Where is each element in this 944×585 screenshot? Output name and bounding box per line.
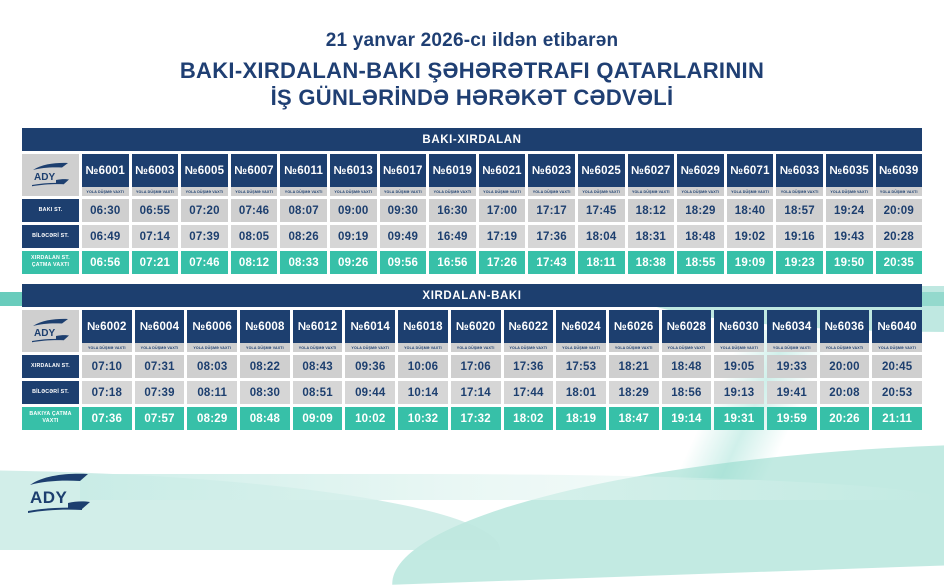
- title-main-line-1: BAKI-XIRDALAN-BAKI ŞƏHƏRƏTRAFI QATARLARI…: [0, 58, 944, 85]
- train-number[interactable]: №6002: [82, 310, 132, 343]
- departure-time-label: YOLA DÜŞMƏ VAXTI: [429, 187, 476, 196]
- departure-time-label: YOLA DÜŞMƏ VAXTI: [135, 343, 185, 352]
- departure-time-label: YOLA DÜŞMƏ VAXTI: [82, 187, 129, 196]
- train-column[interactable]: №6008YOLA DÜŞMƏ VAXTI: [240, 310, 290, 352]
- time-cell: 19:16: [776, 225, 823, 248]
- time-cell: 17:36: [504, 355, 554, 378]
- train-number[interactable]: №6039: [876, 154, 923, 187]
- departure-time-label: YOLA DÜŞMƏ VAXTI: [820, 343, 870, 352]
- departure-time-label: YOLA DÜŞMƏ VAXTI: [240, 343, 290, 352]
- time-cell: 17:19: [479, 225, 526, 248]
- station-label: BAKI ST.: [22, 199, 79, 222]
- time-cell: 20:00: [820, 355, 870, 378]
- train-number[interactable]: №6012: [293, 310, 343, 343]
- train-column[interactable]: №6020YOLA DÜŞMƏ VAXTI: [451, 310, 501, 352]
- time-cell: 06:49: [82, 225, 129, 248]
- time-cell: 20:28: [876, 225, 923, 248]
- departure-time-label: YOLA DÜŞMƏ VAXTI: [609, 343, 659, 352]
- train-column[interactable]: №6014YOLA DÜŞMƏ VAXTI: [345, 310, 395, 352]
- time-cell: 18:56: [662, 381, 712, 404]
- train-column[interactable]: №6024YOLA DÜŞMƏ VAXTI: [556, 310, 606, 352]
- svg-text:ADY: ADY: [30, 488, 68, 507]
- time-cell: 19:24: [826, 199, 873, 222]
- train-number[interactable]: №6020: [451, 310, 501, 343]
- departure-time-label: YOLA DÜŞMƏ VAXTI: [345, 343, 395, 352]
- departure-time-label: YOLA DÜŞMƏ VAXTI: [181, 187, 228, 196]
- train-number[interactable]: №6028: [662, 310, 712, 343]
- schedule-rows: XIRDALAN ST.07:1007:3108:0308:2208:4309:…: [22, 352, 922, 430]
- svg-text:ADY: ADY: [34, 328, 55, 339]
- time-cell: 19:33: [767, 355, 817, 378]
- train-column[interactable]: №6019YOLA DÜŞMƏ VAXTI: [429, 154, 476, 196]
- time-cell: 07:18: [82, 381, 132, 404]
- train-column[interactable]: №6023YOLA DÜŞMƏ VAXTI: [528, 154, 575, 196]
- train-number[interactable]: №6040: [872, 310, 922, 343]
- train-column[interactable]: №6013YOLA DÜŞMƏ VAXTI: [330, 154, 377, 196]
- time-cell: 18:47: [609, 407, 659, 430]
- time-cell: 19:31: [714, 407, 764, 430]
- time-cell: 18:48: [662, 355, 712, 378]
- schedule-rows: BAKI ST.06:3006:5507:2007:4608:0709:0009…: [22, 196, 922, 274]
- departure-time-label: YOLA DÜŞMƏ VAXTI: [872, 343, 922, 352]
- time-cell: 08:03: [187, 355, 237, 378]
- time-cell: 08:51: [293, 381, 343, 404]
- train-column[interactable]: №6026YOLA DÜŞMƏ VAXTI: [609, 310, 659, 352]
- time-cell: 20:45: [872, 355, 922, 378]
- time-cell: 17:17: [528, 199, 575, 222]
- time-cell: 09:09: [293, 407, 343, 430]
- train-number-header-row: ADY№6002YOLA DÜŞMƏ VAXTI№6004YOLA DÜŞMƏ …: [22, 310, 922, 352]
- time-cell: 07:14: [132, 225, 179, 248]
- time-cell: 07:36: [82, 407, 132, 430]
- time-cell: 18:02: [504, 407, 554, 430]
- departure-time-label: YOLA DÜŞMƏ VAXTI: [280, 187, 327, 196]
- departure-time-label: YOLA DÜŞMƏ VAXTI: [876, 187, 923, 196]
- time-cell: 09:30: [380, 199, 427, 222]
- train-column[interactable]: №6029YOLA DÜŞMƏ VAXTI: [677, 154, 724, 196]
- time-cell: 20:08: [820, 381, 870, 404]
- departure-time-label: YOLA DÜŞMƏ VAXTI: [479, 187, 526, 196]
- time-cell: 07:20: [181, 199, 228, 222]
- time-cell: 18:12: [628, 199, 675, 222]
- svg-text:ADY: ADY: [34, 172, 55, 183]
- train-column[interactable]: №6018YOLA DÜŞMƏ VAXTI: [398, 310, 448, 352]
- train-number[interactable]: №6017: [380, 154, 427, 187]
- time-cell: 08:07: [280, 199, 327, 222]
- time-cell: 19:43: [826, 225, 873, 248]
- train-number[interactable]: №6004: [135, 310, 185, 343]
- table-header-xirdalan-baki: XIRDALAN-BAKI: [22, 284, 922, 307]
- train-number[interactable]: №6001: [82, 154, 129, 187]
- train-number[interactable]: №6027: [628, 154, 675, 187]
- train-column[interactable]: №6005YOLA DÜŞMƏ VAXTI: [181, 154, 228, 196]
- schedule-table-xirdalan-baki: XIRDALAN-BAKIADY№6002YOLA DÜŞMƏ VAXTI№60…: [22, 284, 922, 430]
- train-number[interactable]: №6006: [187, 310, 237, 343]
- train-number[interactable]: №6030: [714, 310, 764, 343]
- table-header-baki-xirdalan: BAKI-XIRDALAN: [22, 128, 922, 151]
- time-cell: 17:53: [556, 355, 606, 378]
- station-label: XIRDALAN ST.: [22, 355, 79, 378]
- time-cell: 19:14: [662, 407, 712, 430]
- departure-time-label: YOLA DÜŞMƏ VAXTI: [714, 343, 764, 352]
- ady-logo-footer: ADY: [22, 472, 100, 514]
- time-cell: 18:29: [609, 381, 659, 404]
- train-columns: №6002YOLA DÜŞMƏ VAXTI№6004YOLA DÜŞMƏ VAX…: [79, 310, 922, 352]
- time-cell: 07:39: [135, 381, 185, 404]
- time-cell: 07:31: [135, 355, 185, 378]
- station-label: BİLƏCƏRİ ST.: [22, 381, 79, 404]
- train-number[interactable]: №6029: [677, 154, 724, 187]
- time-cell: 21:11: [872, 407, 922, 430]
- time-cell: 17:43: [528, 251, 575, 274]
- table-row: BAKIYA ÇATMA VAXTI07:3607:5708:2908:4809…: [22, 407, 922, 430]
- train-number[interactable]: №6023: [528, 154, 575, 187]
- time-cell: 08:11: [187, 381, 237, 404]
- time-cell: 18:01: [556, 381, 606, 404]
- train-number[interactable]: №6024: [556, 310, 606, 343]
- time-cell: 17:36: [528, 225, 575, 248]
- train-column[interactable]: №6012YOLA DÜŞMƏ VAXTI: [293, 310, 343, 352]
- time-cell: 09:26: [330, 251, 377, 274]
- train-column[interactable]: №6039YOLA DÜŞMƏ VAXTI: [876, 154, 923, 196]
- time-cell: 06:30: [82, 199, 129, 222]
- train-number[interactable]: №6033: [776, 154, 823, 187]
- train-column[interactable]: №6007YOLA DÜŞMƏ VAXTI: [231, 154, 278, 196]
- train-number[interactable]: №6014: [345, 310, 395, 343]
- time-cell: 10:06: [398, 355, 448, 378]
- time-cell: 20:53: [872, 381, 922, 404]
- ady-logo-cell: ADY: [22, 154, 79, 196]
- time-cell: 18:19: [556, 407, 606, 430]
- time-cell: 09:44: [345, 381, 395, 404]
- train-number[interactable]: №6022: [504, 310, 554, 343]
- time-cell: 08:33: [280, 251, 327, 274]
- train-column[interactable]: №6040YOLA DÜŞMƏ VAXTI: [872, 310, 922, 352]
- time-cell: 19:41: [767, 381, 817, 404]
- time-cell: 07:21: [132, 251, 179, 274]
- train-number[interactable]: №6019: [429, 154, 476, 187]
- train-column[interactable]: №6071YOLA DÜŞMƏ VAXTI: [727, 154, 774, 196]
- time-cell: 17:06: [451, 355, 501, 378]
- time-cell: 16:56: [429, 251, 476, 274]
- time-cell: 07:46: [181, 251, 228, 274]
- table-row: BİLƏCƏRİ ST.06:4907:1407:3908:0508:2609:…: [22, 225, 922, 248]
- departure-time-label: YOLA DÜŞMƏ VAXTI: [556, 343, 606, 352]
- departure-time-label: YOLA DÜŞMƏ VAXTI: [380, 187, 427, 196]
- departure-time-label: YOLA DÜŞMƏ VAXTI: [528, 187, 575, 196]
- table-row: BAKI ST.06:3006:5507:2007:4608:0709:0009…: [22, 199, 922, 222]
- train-number[interactable]: №6008: [240, 310, 290, 343]
- table-row: BİLƏCƏRİ ST.07:1807:3908:1108:3008:5109:…: [22, 381, 922, 404]
- page-footer: ADY: [0, 462, 944, 528]
- time-cell: 18:21: [609, 355, 659, 378]
- train-column[interactable]: №6006YOLA DÜŞMƏ VAXTI: [187, 310, 237, 352]
- train-number[interactable]: №6034: [767, 310, 817, 343]
- time-cell: 19:05: [714, 355, 764, 378]
- train-column[interactable]: №6034YOLA DÜŞMƏ VAXTI: [767, 310, 817, 352]
- departure-time-label: YOLA DÜŞMƏ VAXTI: [187, 343, 237, 352]
- train-columns: №6001YOLA DÜŞMƏ VAXTI№6003YOLA DÜŞMƏ VAX…: [79, 154, 922, 196]
- time-cell: 18:57: [776, 199, 823, 222]
- train-column[interactable]: №6004YOLA DÜŞMƏ VAXTI: [135, 310, 185, 352]
- station-label: BİLƏCƏRİ ST.: [22, 225, 79, 248]
- departure-time-label: YOLA DÜŞMƏ VAXTI: [231, 187, 278, 196]
- time-cell: 07:10: [82, 355, 132, 378]
- train-column[interactable]: №6036YOLA DÜŞMƏ VAXTI: [820, 310, 870, 352]
- train-number[interactable]: №6011: [280, 154, 327, 187]
- time-cell: 07:46: [231, 199, 278, 222]
- time-cell: 06:56: [82, 251, 129, 274]
- departure-time-label: YOLA DÜŞMƏ VAXTI: [451, 343, 501, 352]
- train-number[interactable]: №6003: [132, 154, 179, 187]
- ady-logo-icon: ADY: [29, 318, 73, 344]
- time-cell: 19:13: [714, 381, 764, 404]
- train-column[interactable]: №6002YOLA DÜŞMƏ VAXTI: [82, 310, 132, 352]
- train-column[interactable]: №6033YOLA DÜŞMƏ VAXTI: [776, 154, 823, 196]
- time-cell: 08:43: [293, 355, 343, 378]
- train-number[interactable]: №6018: [398, 310, 448, 343]
- page-title: 21 yanvar 2026-cı ildən etibarən BAKI-XI…: [0, 0, 944, 112]
- time-cell: 08:22: [240, 355, 290, 378]
- train-column[interactable]: №6017YOLA DÜŞMƏ VAXTI: [380, 154, 427, 196]
- time-cell: 09:00: [330, 199, 377, 222]
- time-cell: 17:00: [479, 199, 526, 222]
- train-column[interactable]: №6025YOLA DÜŞMƏ VAXTI: [578, 154, 625, 196]
- departure-time-label: YOLA DÜŞMƏ VAXTI: [293, 343, 343, 352]
- departure-time-label: YOLA DÜŞMƏ VAXTI: [662, 343, 712, 352]
- title-effective-date: 21 yanvar 2026-cı ildən etibarən: [0, 30, 944, 52]
- time-cell: 18:31: [628, 225, 675, 248]
- time-cell: 18:38: [628, 251, 675, 274]
- departure-time-label: YOLA DÜŞMƏ VAXTI: [82, 343, 132, 352]
- schedule-table-baki-xirdalan: BAKI-XIRDALANADY№6001YOLA DÜŞMƏ VAXTI№60…: [22, 128, 922, 274]
- time-cell: 10:14: [398, 381, 448, 404]
- time-cell: 18:40: [727, 199, 774, 222]
- train-column[interactable]: №6022YOLA DÜŞMƏ VAXTI: [504, 310, 554, 352]
- departure-time-label: YOLA DÜŞMƏ VAXTI: [504, 343, 554, 352]
- time-cell: 19:50: [826, 251, 873, 274]
- time-cell: 08:30: [240, 381, 290, 404]
- departure-time-label: YOLA DÜŞMƏ VAXTI: [398, 343, 448, 352]
- time-cell: 18:04: [578, 225, 625, 248]
- train-column[interactable]: №6035YOLA DÜŞMƏ VAXTI: [826, 154, 873, 196]
- departure-time-label: YOLA DÜŞMƏ VAXTI: [776, 187, 823, 196]
- time-cell: 20:26: [820, 407, 870, 430]
- table-row: XIRDALAN ST. ÇATMA VAXTI06:5607:2107:460…: [22, 251, 922, 274]
- departure-time-label: YOLA DÜŞMƏ VAXTI: [628, 187, 675, 196]
- train-column[interactable]: №6011YOLA DÜŞMƏ VAXTI: [280, 154, 327, 196]
- ady-logo-cell: ADY: [22, 310, 79, 352]
- ady-logo-icon: ADY: [29, 162, 73, 188]
- train-number[interactable]: №6035: [826, 154, 873, 187]
- time-cell: 18:55: [677, 251, 724, 274]
- table-row: XIRDALAN ST.07:1007:3108:0308:2208:4309:…: [22, 355, 922, 378]
- time-cell: 08:05: [231, 225, 278, 248]
- departure-time-label: YOLA DÜŞMƏ VAXTI: [767, 343, 817, 352]
- train-column[interactable]: №6021YOLA DÜŞMƏ VAXTI: [479, 154, 526, 196]
- time-cell: 09:56: [380, 251, 427, 274]
- time-cell: 20:35: [876, 251, 923, 274]
- departure-time-label: YOLA DÜŞMƏ VAXTI: [727, 187, 774, 196]
- time-cell: 16:30: [429, 199, 476, 222]
- time-cell: 08:29: [187, 407, 237, 430]
- train-column[interactable]: №6028YOLA DÜŞMƏ VAXTI: [662, 310, 712, 352]
- train-number[interactable]: №6036: [820, 310, 870, 343]
- time-cell: 09:36: [345, 355, 395, 378]
- departure-time-label: YOLA DÜŞMƏ VAXTI: [826, 187, 873, 196]
- time-cell: 18:29: [677, 199, 724, 222]
- departure-time-label: YOLA DÜŞMƏ VAXTI: [677, 187, 724, 196]
- time-cell: 17:45: [578, 199, 625, 222]
- time-cell: 16:49: [429, 225, 476, 248]
- train-column[interactable]: №6030YOLA DÜŞMƏ VAXTI: [714, 310, 764, 352]
- time-cell: 09:49: [380, 225, 427, 248]
- time-cell: 18:48: [677, 225, 724, 248]
- time-cell: 17:26: [479, 251, 526, 274]
- time-cell: 18:11: [578, 251, 625, 274]
- time-cell: 19:23: [776, 251, 823, 274]
- train-number[interactable]: №6071: [727, 154, 774, 187]
- train-column[interactable]: №6003YOLA DÜŞMƏ VAXTI: [132, 154, 179, 196]
- time-cell: 17:14: [451, 381, 501, 404]
- time-cell: 17:44: [504, 381, 554, 404]
- time-cell: 19:59: [767, 407, 817, 430]
- title-main-line-2: İŞ GÜNLƏRİNDƏ HƏRƏKƏT CƏDVƏLİ: [0, 85, 944, 112]
- train-number-header-row: ADY№6001YOLA DÜŞMƏ VAXTI№6003YOLA DÜŞMƏ …: [22, 154, 922, 196]
- time-cell: 08:26: [280, 225, 327, 248]
- time-cell: 07:57: [135, 407, 185, 430]
- train-number[interactable]: №6021: [479, 154, 526, 187]
- station-label: BAKIYA ÇATMA VAXTI: [22, 407, 79, 430]
- time-cell: 20:09: [876, 199, 923, 222]
- time-cell: 10:02: [345, 407, 395, 430]
- departure-time-label: YOLA DÜŞMƏ VAXTI: [578, 187, 625, 196]
- train-number[interactable]: №6025: [578, 154, 625, 187]
- departure-time-label: YOLA DÜŞMƏ VAXTI: [132, 187, 179, 196]
- train-column[interactable]: №6027YOLA DÜŞMƏ VAXTI: [628, 154, 675, 196]
- time-cell: 06:55: [132, 199, 179, 222]
- time-cell: 10:32: [398, 407, 448, 430]
- train-number[interactable]: №6013: [330, 154, 377, 187]
- train-number[interactable]: №6007: [231, 154, 278, 187]
- time-cell: 17:32: [451, 407, 501, 430]
- train-number[interactable]: №6005: [181, 154, 228, 187]
- time-cell: 09:19: [330, 225, 377, 248]
- time-cell: 19:02: [727, 225, 774, 248]
- time-cell: 08:12: [231, 251, 278, 274]
- time-cell: 08:48: [240, 407, 290, 430]
- train-column[interactable]: №6001YOLA DÜŞMƏ VAXTI: [82, 154, 129, 196]
- train-number[interactable]: №6026: [609, 310, 659, 343]
- departure-time-label: YOLA DÜŞMƏ VAXTI: [330, 187, 377, 196]
- station-label: XIRDALAN ST. ÇATMA VAXTI: [22, 251, 79, 274]
- time-cell: 07:39: [181, 225, 228, 248]
- time-cell: 19:09: [727, 251, 774, 274]
